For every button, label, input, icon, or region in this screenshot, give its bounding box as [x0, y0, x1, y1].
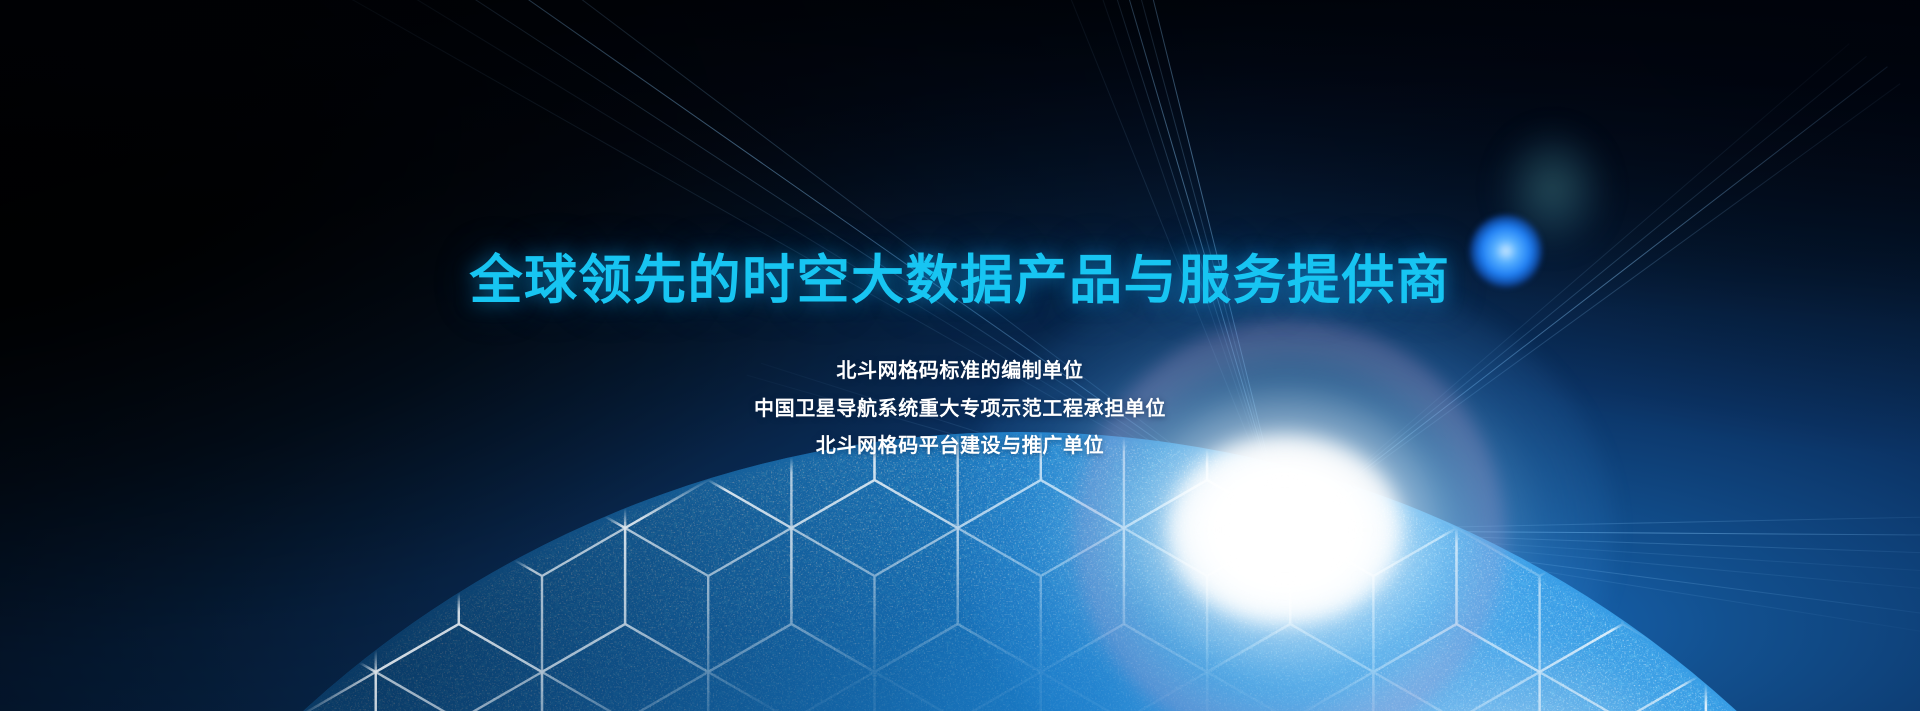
grid-cube-edge: [1623, 528, 1789, 672]
grid-cube-edge: [209, 672, 375, 711]
grid-cube-edge: [791, 528, 957, 672]
grid-cube-edge: [209, 432, 375, 528]
grid-cube-edge: [1540, 672, 1706, 711]
grid-cube-edge: [43, 432, 209, 528]
grid-cube-edge: [376, 432, 542, 528]
grid-cube-edge: [376, 672, 542, 711]
grid-hex: [0, 480, 126, 672]
grid-cube-edge: [1872, 432, 1920, 528]
grid-cube-edge: [1706, 432, 1872, 528]
grid-cube-edge: [0, 672, 43, 711]
grid-hex: [1706, 624, 1872, 711]
hero-banner: 全球领先的时空大数据产品与服务提供商 北斗网格码标准的编制单位 中国卫星导航系统…: [0, 0, 1920, 711]
grid-hex: [43, 624, 209, 711]
grid-hex: [1872, 624, 1920, 711]
grid-hex: [209, 624, 375, 711]
grid-cube-edge: [625, 528, 791, 672]
grid-cube-edge: [43, 672, 209, 711]
grid-hex: [542, 624, 708, 711]
grid-cube-edge: [542, 432, 708, 528]
grid-cube-edge: [293, 528, 459, 672]
grid-cube-edge: [0, 528, 126, 672]
grid-cube-edge: [126, 528, 292, 672]
grid-hex: [0, 432, 43, 528]
grid-cube-edge: [1789, 528, 1920, 672]
grid-hex: [1872, 432, 1920, 528]
grid-cube-edge: [1706, 672, 1872, 711]
grid-cube-edge: [0, 432, 43, 528]
grid-hex: [1789, 480, 1920, 672]
grid-cube-edge: [542, 672, 708, 711]
grid-cube-edge: [708, 672, 874, 711]
grid-cube-edge: [1872, 672, 1920, 711]
grid-hex: [376, 624, 542, 711]
grid-hex: [0, 624, 43, 711]
grid-hex: [708, 624, 874, 711]
grid-cube-edge: [708, 432, 874, 528]
grid-cube-edge: [459, 528, 625, 672]
